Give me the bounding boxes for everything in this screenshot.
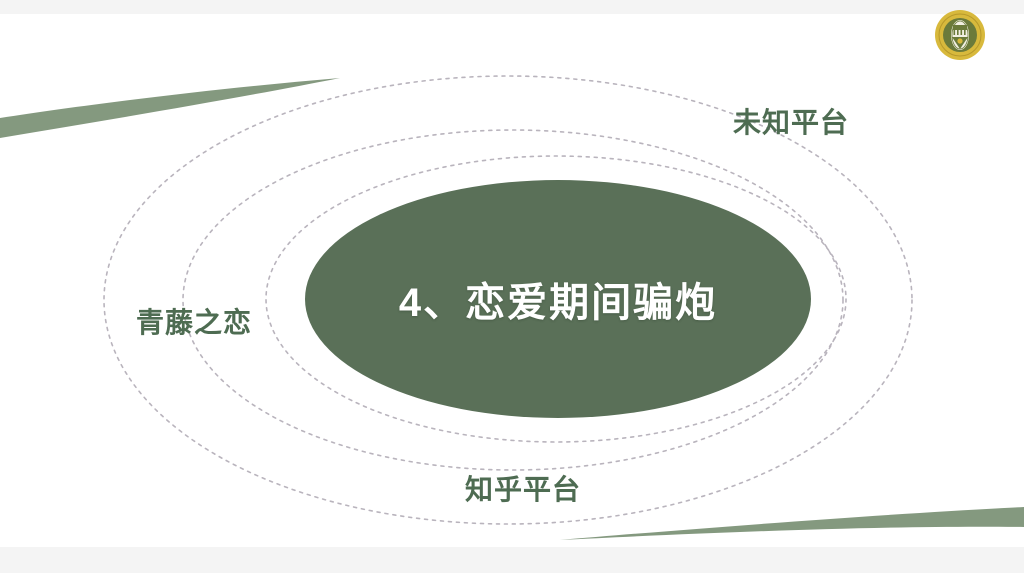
accent-band-lower-right <box>560 507 1024 540</box>
ring-label-zhihu-platform: 知乎平台 <box>465 468 581 508</box>
center-ellipse[interactable] <box>305 180 811 418</box>
accent-band-upper-left <box>0 78 340 138</box>
ring-label-ivy-love: 青藤之恋 <box>136 301 252 341</box>
presentation-slide: 4、恋爱期间骗炮 未知平台 青藤之恋 知乎平台 <box>0 0 1024 573</box>
organization-seal-logo-icon <box>934 9 986 61</box>
ring-label-unknown-platform: 未知平台 <box>733 101 849 141</box>
